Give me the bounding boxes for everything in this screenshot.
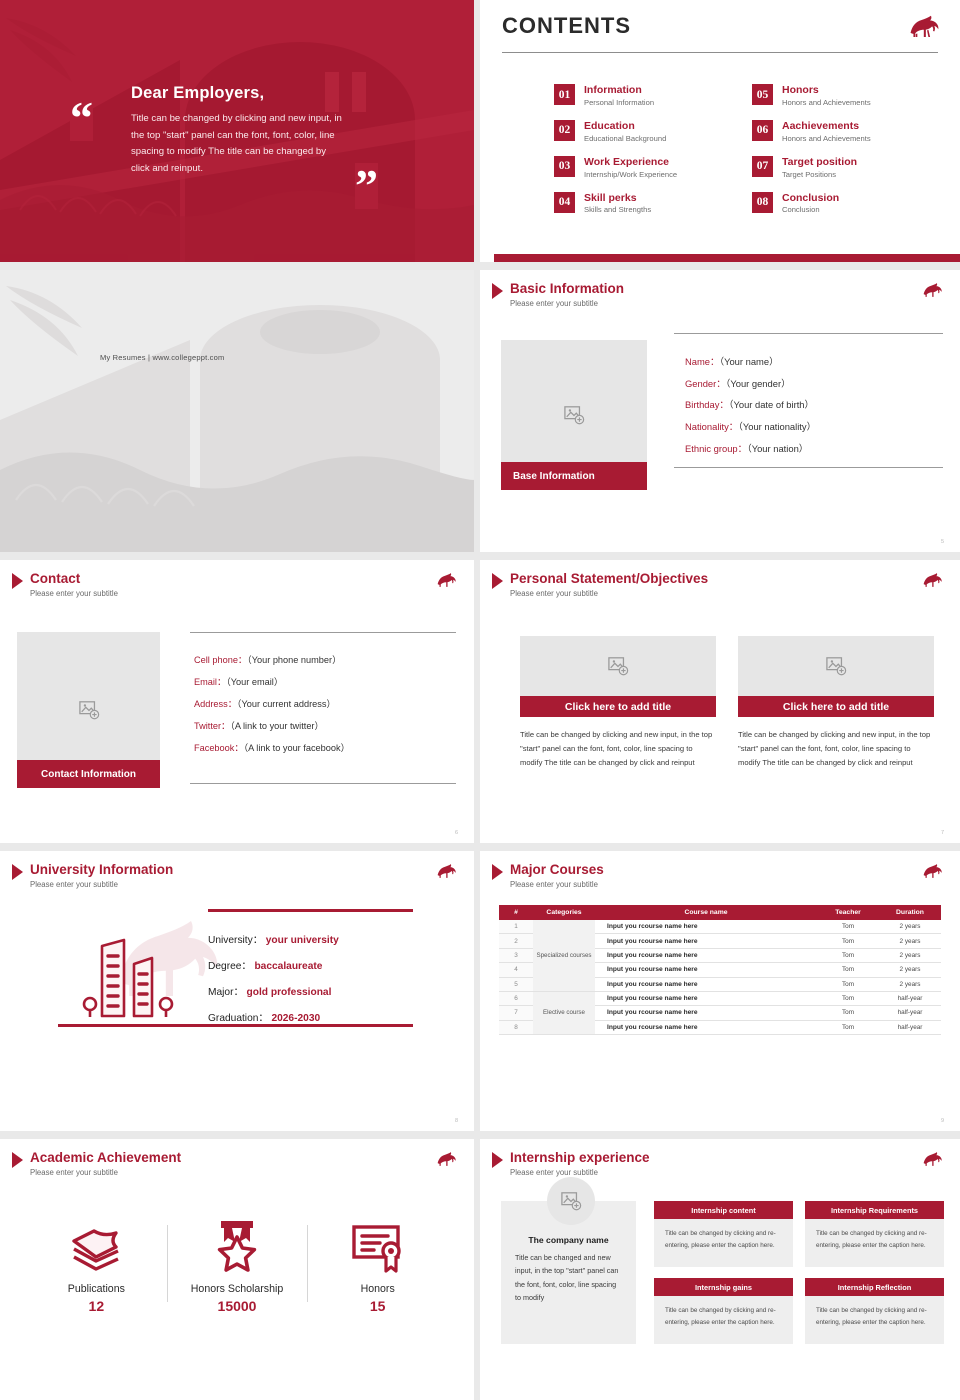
list-item: Gender：（Your gender） — [685, 378, 943, 391]
contents-item-subtitle: Educational Background — [584, 134, 666, 144]
field-value: （Your date of birth） — [729, 399, 814, 410]
contents-item-title: Aachievements — [782, 120, 871, 133]
cell-duration: 2 years — [879, 977, 941, 991]
slide-basic-information[interactable]: Basic Information Please enter your subt… — [480, 270, 960, 552]
cell-teacher: Tom — [817, 977, 879, 991]
contents-item-subtitle: Skills and Strengths — [584, 205, 651, 215]
contents-number: 05 — [752, 84, 773, 105]
statement-card[interactable]: Click here to add title Title can be cha… — [738, 636, 934, 770]
stat-value: 15000 — [218, 1298, 257, 1314]
list-item: Cell phone：（Your phone number） — [194, 655, 456, 667]
section-caption: My Resumes | www.collegeppt.com — [100, 353, 224, 362]
slide-section-divider[interactable]: 01 Personal Information Personal Informa… — [0, 270, 474, 552]
photo-placeholder[interactable]: Contact Information — [17, 632, 160, 788]
contents-item-subtitle: Internship/Work Experience — [584, 170, 677, 180]
certificate-icon — [350, 1219, 406, 1273]
slide-contents[interactable]: CONTENTS 01 Information Personal Informa… — [480, 0, 960, 262]
field-key: Twitter： — [194, 721, 230, 731]
add-image-icon — [78, 700, 100, 720]
buildings-icon — [72, 924, 192, 1024]
stat-honors[interactable]: Honors 15 — [307, 1219, 448, 1314]
slide-personal-statement[interactable]: Personal Statement/Objectives Please ent… — [480, 560, 960, 843]
slide-major-courses[interactable]: Major Courses Please enter your subtitle… — [480, 851, 960, 1131]
image-placeholder[interactable] — [520, 636, 716, 696]
wildcat-logo-icon — [922, 863, 944, 880]
list-item: Ethnic group：（Your nation） — [685, 443, 943, 456]
contents-item-02[interactable]: 02 Education Educational Background — [554, 120, 724, 143]
wildcat-logo-icon — [922, 572, 944, 589]
triangle-bullet-icon — [492, 1152, 503, 1168]
page-title: Basic Information — [510, 281, 624, 297]
cell-course: Input you rcourse name here — [595, 977, 817, 991]
cover-body: Title can be changed by clicking and new… — [131, 111, 346, 177]
triangle-bullet-icon — [12, 573, 23, 589]
company-panel[interactable]: The company name Title can be changed an… — [501, 1201, 636, 1344]
contents-item-title: Conclusion — [782, 192, 839, 205]
field-value: （Your gender） — [726, 378, 791, 389]
stat-label: Publications — [68, 1283, 125, 1295]
list-item: Facebook：（A link to your facebook） — [194, 743, 456, 755]
quote-close-icon: ” — [355, 163, 378, 209]
contents-number: 04 — [554, 192, 575, 213]
stat-value: 15 — [370, 1298, 386, 1314]
contents-item-subtitle: Honors and Achievements — [782, 134, 871, 144]
slide-header: Internship experience Please enter your … — [492, 1150, 650, 1177]
cell-teacher: Tom — [817, 991, 879, 1005]
cell-index: 5 — [499, 977, 533, 991]
page-number: 8 — [455, 1118, 458, 1124]
cell-course: Input you rcourse name here — [595, 934, 817, 948]
medal-star-icon — [212, 1219, 262, 1273]
contents-column-right: 05 Honors Honors and Achievements 06 Aac… — [752, 84, 922, 215]
field-key: Address： — [194, 699, 237, 709]
cell-index: 7 — [499, 1006, 533, 1020]
table-row: 6 Elective course Input you rcourse name… — [499, 991, 941, 1005]
contents-number: 01 — [554, 84, 575, 105]
field-key: Gender： — [685, 378, 726, 389]
contents-number: 03 — [554, 156, 575, 177]
col-index: # — [499, 905, 533, 920]
internship-card[interactable]: Internship gains Title can be changed by… — [654, 1278, 793, 1344]
triangle-bullet-icon — [492, 573, 503, 589]
university-fields: University： your university Degree： bacc… — [208, 931, 339, 1035]
contact-info-list: Cell phone：（Your phone number） Email：（Yo… — [190, 632, 456, 784]
page-subtitle: Please enter your subtitle — [30, 589, 118, 598]
field-key: Cell phone： — [194, 655, 247, 665]
cell-teacher: Tom — [817, 920, 879, 934]
wildcat-logo-icon — [922, 1151, 944, 1168]
page-number: 7 — [941, 830, 944, 836]
stat-publications[interactable]: Publications 12 — [26, 1219, 167, 1314]
contents-number: 02 — [554, 120, 575, 141]
cell-teacher: Tom — [817, 948, 879, 962]
cell-course: Input you rcourse name here — [595, 963, 817, 977]
page-number: 5 — [941, 539, 944, 545]
contents-item-title: Information — [584, 84, 654, 97]
cell-course: Input you rcourse name here — [595, 920, 817, 934]
field-value: baccalaureate — [254, 961, 322, 972]
field-key: Major： — [208, 987, 244, 998]
contents-item-subtitle: Honors and Achievements — [782, 98, 871, 108]
contents-number: 08 — [752, 192, 773, 213]
slide-header: Personal Statement/Objectives Please ent… — [492, 571, 708, 598]
cell-course: Input you rcourse name here — [595, 991, 817, 1005]
cover-text-block: Dear Employers, Title can be changed by … — [131, 84, 346, 177]
field-value: 2026-2030 — [271, 1013, 320, 1024]
field-row: University： your university — [208, 931, 339, 946]
table-header-row: # Categories Course name Teacher Duratio… — [499, 905, 941, 920]
contents-item-title: Education — [584, 120, 666, 133]
field-value: （A link to your facebook） — [244, 743, 350, 753]
col-course-name: Course name — [595, 905, 817, 920]
panel-top-rule — [208, 909, 413, 912]
page-title: Contact — [30, 571, 118, 587]
contents-item-subtitle: Personal Information — [584, 98, 654, 108]
contents-bottom-bar — [494, 254, 960, 262]
internship-card[interactable]: Internship Reflection Title can be chang… — [805, 1278, 944, 1344]
cell-duration: 2 years — [879, 934, 941, 948]
contents-column-left: 01 Information Personal Information 02 E… — [554, 84, 724, 215]
cell-duration: 2 years — [879, 963, 941, 977]
wildcat-logo-icon — [908, 14, 942, 40]
contents-item-subtitle: Target Positions — [782, 170, 857, 180]
triangle-bullet-icon — [492, 864, 503, 880]
field-key: Facebook： — [194, 743, 244, 753]
cell-category: Specialized courses — [533, 920, 595, 991]
cell-course: Input you rcourse name here — [595, 1020, 817, 1034]
company-body: Title can be changed and new input, in t… — [515, 1251, 622, 1304]
statement-card[interactable]: Click here to add title Title can be cha… — [520, 636, 716, 770]
page-subtitle: Please enter your subtitle — [30, 880, 173, 889]
stat-value: 12 — [89, 1298, 105, 1314]
contents-item-title: Target position — [782, 156, 857, 169]
cell-index: 8 — [499, 1020, 533, 1034]
card-caption-button[interactable]: Click here to add title — [520, 696, 716, 717]
col-duration: Duration — [879, 905, 941, 920]
photo-caption: Contact Information — [17, 760, 160, 788]
wildcat-logo-icon — [922, 282, 944, 299]
contents-item-05[interactable]: 05 Honors Honors and Achievements — [752, 84, 922, 107]
cell-category: Elective course — [533, 991, 595, 1034]
contents-number: 07 — [752, 156, 773, 177]
contents-item-06[interactable]: 06 Aachievements Honors and Achievements — [752, 120, 922, 143]
slide-header: Academic Achievement Please enter your s… — [12, 1150, 181, 1177]
slide-academic-achievement[interactable]: Academic Achievement Please enter your s… — [0, 1139, 474, 1400]
slide-internship-experience[interactable]: Internship experience Please enter your … — [480, 1139, 960, 1400]
contents-item-subtitle: Conclusion — [782, 205, 839, 215]
contents-item-08[interactable]: 08 Conclusion Conclusion — [752, 192, 922, 215]
field-row: Degree： baccalaureate — [208, 957, 339, 972]
col-teacher: Teacher — [817, 905, 879, 920]
contents-item-04[interactable]: 04 Skill perks Skills and Strengths — [554, 192, 724, 215]
field-row: Graduation： 2026-2030 — [208, 1009, 339, 1024]
page-subtitle: Please enter your subtitle — [510, 880, 604, 889]
stat-label: Honors — [361, 1283, 395, 1295]
add-image-icon — [560, 1191, 582, 1211]
contents-item-03[interactable]: 03 Work Experience Internship/Work Exper… — [554, 156, 724, 179]
cell-duration: 2 years — [879, 948, 941, 962]
field-key: Name： — [685, 356, 719, 367]
slide-university-information[interactable]: University Information Please enter your… — [0, 851, 474, 1131]
field-key: Email： — [194, 677, 226, 687]
card-body: Title can be changed by clicking and re-… — [654, 1296, 793, 1344]
statement-cards: Click here to add title Title can be cha… — [520, 636, 934, 770]
slide-header: Contact Please enter your subtitle — [12, 571, 118, 598]
field-key: University： — [208, 935, 263, 946]
page-subtitle: Please enter your subtitle — [510, 589, 708, 598]
card-caption[interactable]: Internship Requirements — [805, 1201, 944, 1219]
field-key: Nationality： — [685, 421, 738, 432]
card-body: Title can be changed by clicking and re-… — [654, 1219, 793, 1267]
page-number: 6 — [455, 830, 458, 836]
page-title: Personal Statement/Objectives — [510, 571, 708, 587]
card-body: Title can be changed by clicking and re-… — [805, 1296, 944, 1344]
cover-title: Dear Employers, — [131, 84, 346, 103]
page-subtitle: Please enter your subtitle — [510, 299, 624, 308]
field-value: （Your email） — [226, 677, 283, 687]
photo-caption: Base Information — [501, 462, 647, 490]
list-item: Address：（Your current address） — [194, 699, 456, 711]
field-value: （Your phone number） — [247, 655, 341, 665]
wildcat-logo-icon — [436, 863, 458, 880]
page-title: Academic Achievement — [30, 1150, 181, 1166]
internship-content: The company name Title can be changed an… — [501, 1201, 944, 1344]
internship-cards: Internship content Title can be changed … — [654, 1201, 944, 1344]
quote-open-icon: “ — [70, 95, 93, 141]
field-key: Degree： — [208, 961, 252, 972]
field-value: （Your name） — [719, 356, 778, 367]
cell-index: 2 — [499, 934, 533, 948]
slide-contact[interactable]: Contact Please enter your subtitle Conta… — [0, 560, 474, 843]
contents-number: 06 — [752, 120, 773, 141]
contents-item-title: Skill perks — [584, 192, 651, 205]
card-body: Title can be changed by clicking and new… — [738, 728, 934, 770]
table-row: 1 Specialized courses Input you rcourse … — [499, 920, 941, 934]
slide-cover[interactable]: “ ” Dear Employers, Title can be changed… — [0, 0, 474, 262]
page-title: University Information — [30, 862, 173, 878]
cell-duration: half-year — [879, 991, 941, 1005]
list-item: Name：（Your name） — [685, 356, 943, 369]
cell-index: 1 — [499, 920, 533, 934]
cell-index: 4 — [499, 963, 533, 977]
card-caption[interactable]: Internship Reflection — [805, 1278, 944, 1296]
card-body: Title can be changed by clicking and new… — [520, 728, 716, 770]
triangle-bullet-icon — [12, 1152, 23, 1168]
achievement-stats: Publications 12 Honors Scholarship 150 — [26, 1219, 448, 1314]
university-panel: University： your university Degree： bacc… — [58, 909, 415, 1027]
field-value: （Your current address） — [237, 699, 336, 709]
courses-table: # Categories Course name Teacher Duratio… — [499, 905, 941, 1035]
field-value: your university — [266, 935, 339, 946]
cell-course: Input you rcourse name here — [595, 1006, 817, 1020]
add-image-icon — [825, 656, 847, 676]
contents-item-01[interactable]: 01 Information Personal Information — [554, 84, 724, 107]
page-subtitle: Please enter your subtitle — [510, 1168, 650, 1177]
card-caption-button[interactable]: Click here to add title — [738, 696, 934, 717]
cell-duration: half-year — [879, 1020, 941, 1034]
image-placeholder[interactable] — [547, 1177, 595, 1225]
stat-label: Honors Scholarship — [191, 1283, 283, 1295]
stat-honors-scholarship[interactable]: Honors Scholarship 15000 — [167, 1219, 308, 1314]
list-item: Email：（Your email） — [194, 677, 456, 689]
contents-heading: CONTENTS — [502, 13, 631, 39]
add-image-icon — [607, 656, 629, 676]
image-placeholder[interactable] — [738, 636, 934, 696]
field-key: Graduation： — [208, 1013, 269, 1024]
cell-duration: 2 years — [879, 920, 941, 934]
cell-duration: half-year — [879, 1006, 941, 1020]
list-item: Nationality：（Your nationality） — [685, 421, 943, 434]
field-key: Ethnic group： — [685, 443, 747, 454]
col-categories: Categories — [533, 905, 595, 920]
page-title: Internship experience — [510, 1150, 650, 1166]
basic-info-list: Name：（Your name） Gender：（Your gender） Bi… — [674, 333, 943, 468]
internship-card[interactable]: Internship content Title can be changed … — [654, 1201, 793, 1267]
list-item: Birthday：（Your date of birth） — [685, 399, 943, 412]
contents-divider — [502, 52, 938, 53]
cell-teacher: Tom — [817, 1020, 879, 1034]
company-name: The company name — [515, 1235, 622, 1245]
field-value: （A link to your twitter） — [230, 721, 323, 731]
field-key: Birthday： — [685, 399, 729, 410]
card-caption[interactable]: Internship gains — [654, 1278, 793, 1296]
cell-index: 6 — [499, 991, 533, 1005]
field-row: Major： gold professional — [208, 983, 339, 998]
campus-watermark-gray — [0, 270, 474, 552]
cell-teacher: Tom — [817, 963, 879, 977]
contents-item-title: Work Experience — [584, 156, 677, 169]
wildcat-logo-icon — [436, 572, 458, 589]
field-value: gold professional — [247, 987, 332, 998]
cell-teacher: Tom — [817, 1006, 879, 1020]
field-value: （Your nationality） — [738, 421, 816, 432]
photo-placeholder[interactable]: Base Information — [501, 340, 647, 490]
internship-card[interactable]: Internship Requirements Title can be cha… — [805, 1201, 944, 1267]
page-title: Major Courses — [510, 862, 604, 878]
card-caption[interactable]: Internship content — [654, 1201, 793, 1219]
list-item: Twitter：（A link to your twitter） — [194, 721, 456, 733]
triangle-bullet-icon — [492, 283, 503, 299]
add-image-icon — [563, 405, 585, 425]
slide-header: University Information Please enter your… — [12, 862, 173, 889]
cell-index: 3 — [499, 948, 533, 962]
cell-teacher: Tom — [817, 934, 879, 948]
books-stack-icon — [68, 1219, 124, 1273]
contents-columns: 01 Information Personal Information 02 E… — [554, 84, 940, 215]
slide-header: Major Courses Please enter your subtitle — [492, 862, 604, 889]
contents-item-07[interactable]: 07 Target position Target Positions — [752, 156, 922, 179]
cell-course: Input you rcourse name here — [595, 948, 817, 962]
slide-header: Basic Information Please enter your subt… — [492, 281, 624, 308]
triangle-bullet-icon — [12, 864, 23, 880]
field-value: （Your nation） — [747, 443, 808, 454]
page-number: 9 — [941, 1118, 944, 1124]
contents-item-title: Honors — [782, 84, 871, 97]
page-subtitle: Please enter your subtitle — [30, 1168, 181, 1177]
wildcat-logo-icon — [436, 1151, 458, 1168]
card-body: Title can be changed by clicking and re-… — [805, 1219, 944, 1267]
slide-deck-grid: “ ” Dear Employers, Title can be changed… — [0, 0, 960, 1400]
